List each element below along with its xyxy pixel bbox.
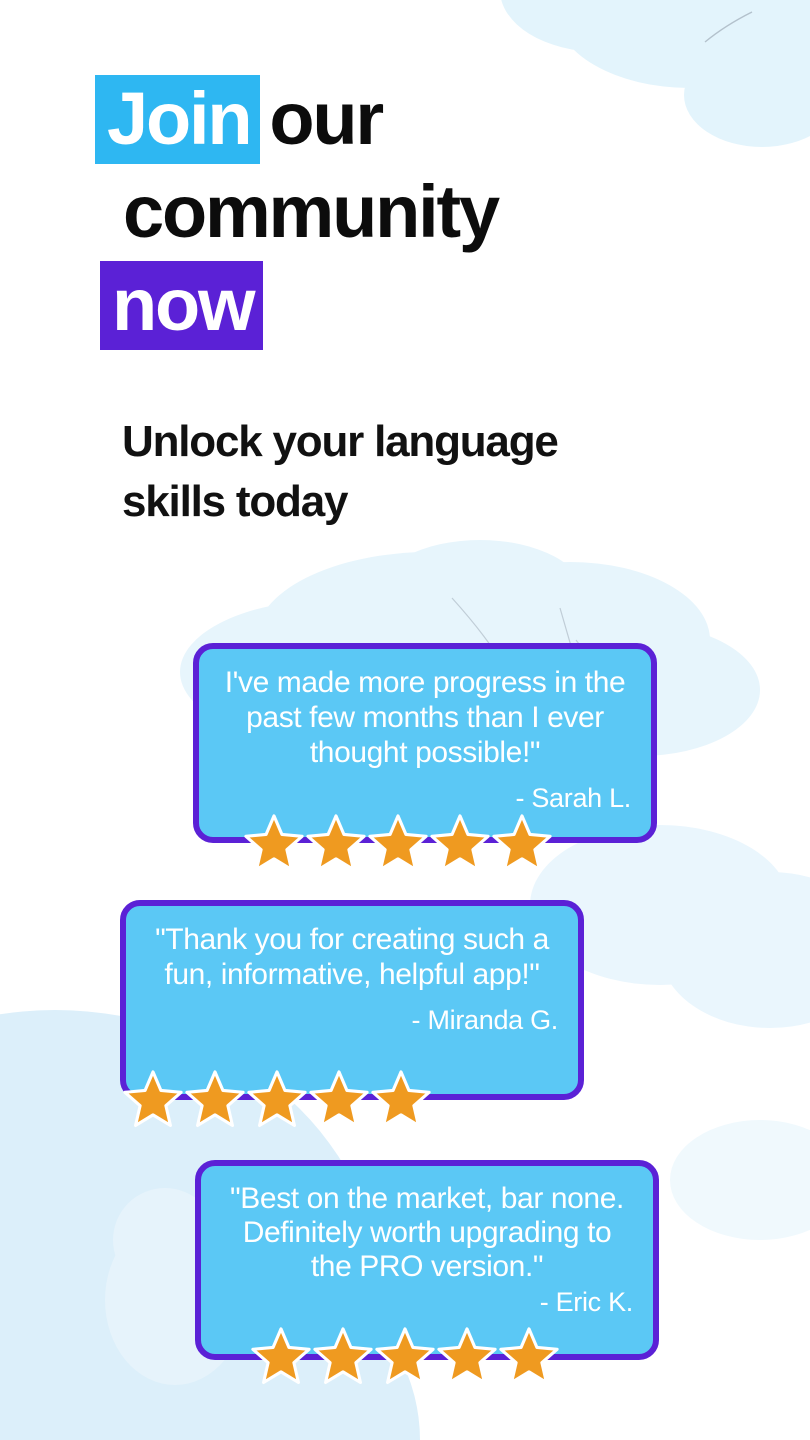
star-icon[interactable] [308, 1068, 370, 1130]
cloud-bottom-right [670, 1120, 810, 1240]
star-icon[interactable] [498, 1325, 560, 1387]
testimonial-quote: "Thank you for creating such a fun, info… [146, 922, 558, 992]
subheading-line-1: Unlock your language [122, 412, 722, 472]
star-icon[interactable] [370, 1068, 432, 1130]
star-icon[interactable] [429, 812, 491, 874]
rating-stars[interactable] [122, 1068, 432, 1130]
subheading: Unlock your language skills today [122, 412, 722, 532]
testimonial-author: - Sarah L. [219, 782, 631, 814]
star-icon[interactable] [374, 1325, 436, 1387]
testimonial-quote: I've made more progress in the past few … [219, 665, 631, 770]
testimonial-quote: "Best on the market, bar none. Definitel… [221, 1182, 633, 1284]
star-icon[interactable] [305, 812, 367, 874]
testimonial-author: - Eric K. [221, 1286, 633, 1318]
testimonial-author: - Miranda G. [146, 1004, 558, 1036]
headline-highlight-now: now [100, 261, 263, 350]
star-icon[interactable] [367, 812, 429, 874]
star-icon[interactable] [250, 1325, 312, 1387]
star-icon[interactable] [184, 1068, 246, 1130]
star-icon[interactable] [312, 1325, 374, 1387]
headline-line-3: now [100, 258, 755, 351]
star-icon[interactable] [436, 1325, 498, 1387]
star-icon[interactable] [122, 1068, 184, 1130]
rating-stars[interactable] [250, 1325, 560, 1387]
star-icon[interactable] [246, 1068, 308, 1130]
headline-line-1: Joinour [95, 72, 755, 165]
headline: Joinour community now [95, 72, 755, 351]
headline-highlight-join: Join [95, 75, 260, 164]
star-icon[interactable] [243, 812, 305, 874]
subheading-line-2: skills today [122, 472, 722, 532]
rating-stars[interactable] [243, 812, 553, 874]
promo-screen: Joinour community now Unlock your langua… [0, 0, 810, 1440]
star-icon[interactable] [491, 812, 553, 874]
headline-plain-our: our [260, 72, 382, 165]
headline-line-2: community [123, 165, 755, 258]
